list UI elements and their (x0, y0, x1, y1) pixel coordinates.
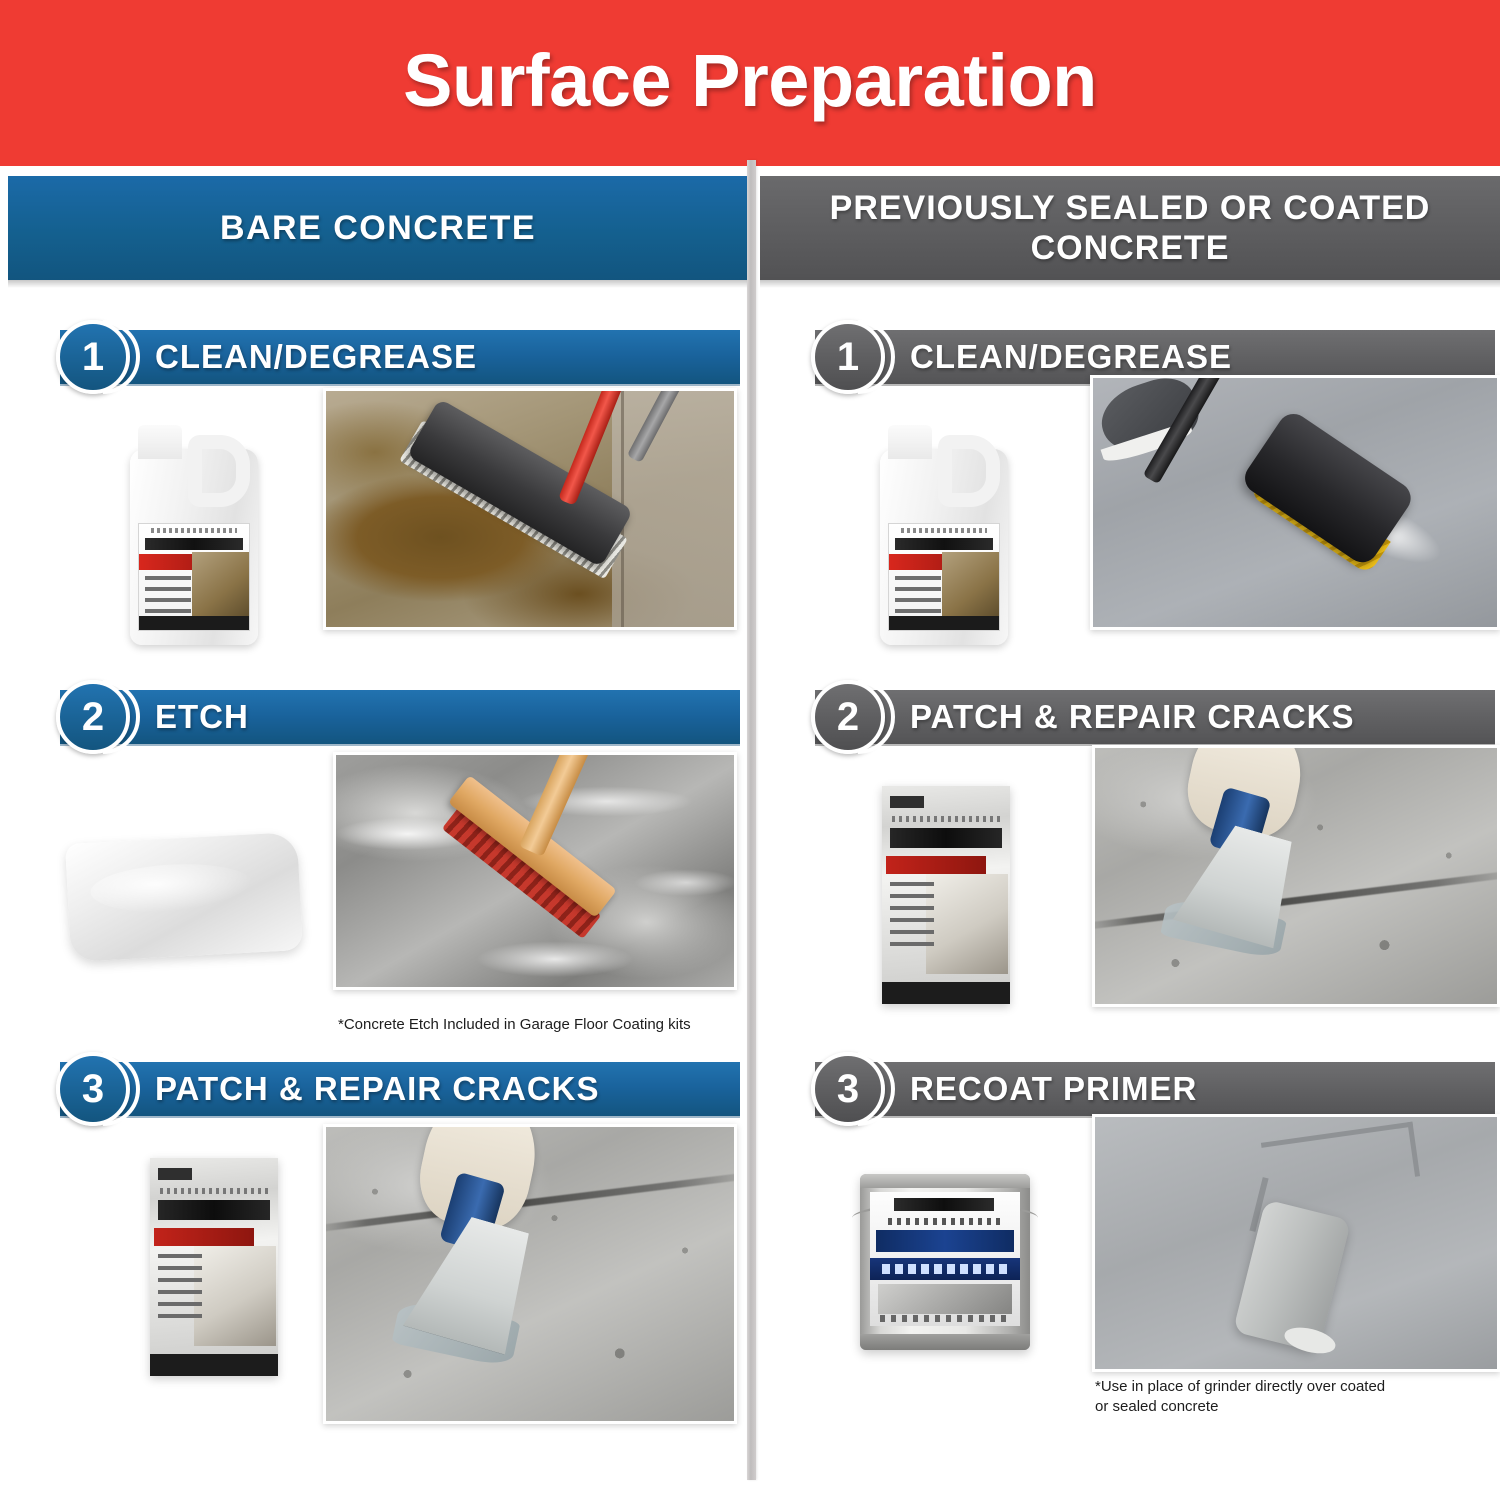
column-heading-left: BARE CONCRETE (8, 176, 748, 280)
can-label-brand (894, 1198, 994, 1211)
left-step-2-bar: ETCH (60, 690, 740, 746)
left-step-2-photo (333, 752, 737, 990)
left-step-2-badge: 2 (56, 680, 130, 754)
left-step-3-label: PATCH & REPAIR CRACKS (155, 1070, 600, 1108)
right-step-2-badge: 2 (811, 680, 885, 754)
column-heading-left-label: BARE CONCRETE (220, 209, 536, 248)
jug-label-topline (901, 528, 987, 533)
photo-content (326, 1127, 734, 1421)
column-divider (747, 160, 756, 1480)
left-step-2-product (65, 832, 303, 962)
right-step-3-bar: RECOAT PRIMER (815, 1062, 1495, 1118)
can-label-photo (878, 1284, 1012, 1314)
photo-content (326, 391, 734, 627)
roller-frame-wire (1261, 1122, 1420, 1198)
right-step-2-number: 2 (837, 695, 859, 740)
can-label-title (876, 1230, 1014, 1252)
jug-label-text-lines (895, 576, 941, 620)
left-step-2-label: ETCH (155, 698, 249, 736)
box-tagline (160, 1188, 268, 1194)
box-red-band (886, 856, 986, 874)
concrete-slab (612, 391, 734, 627)
box-brand (890, 828, 1002, 848)
photo-content (1093, 378, 1497, 627)
jug-label-brand (895, 538, 993, 550)
box-footer (150, 1354, 278, 1376)
left-column-footnote: *Concrete Etch Included in Garage Floor … (338, 1015, 738, 1035)
can-rim-top (860, 1174, 1030, 1188)
box-photo (194, 1246, 276, 1346)
box-top-tab (158, 1168, 192, 1180)
photo-content (336, 755, 734, 987)
right-step-2-bar: PATCH & REPAIR CRACKS (815, 690, 1495, 746)
column-heading-right-label: PREVIOUSLY SEALED OR COATED CONCRETE (760, 188, 1500, 268)
column-heading-right-shadow (760, 280, 1500, 288)
jug-label-footer (139, 616, 249, 630)
right-step-1-number: 1 (837, 335, 859, 380)
left-step-1-bar: CLEAN/DEGREASE (60, 330, 740, 386)
left-step-2-number: 2 (82, 695, 104, 740)
jug-label-topline (151, 528, 237, 533)
right-step-1-label: CLEAN/DEGREASE (910, 338, 1232, 376)
box-footer (882, 982, 1010, 1004)
jug-handle (188, 435, 250, 507)
box-photo (926, 874, 1008, 974)
left-step-1-badge: 1 (56, 320, 130, 394)
page-title: Surface Preparation (403, 44, 1097, 122)
jug-neck (138, 425, 182, 459)
box-text-lines (890, 882, 934, 952)
jug-label-footer (889, 616, 999, 630)
jug-label-photo (192, 552, 249, 616)
right-step-2-label: PATCH & REPAIR CRACKS (910, 698, 1355, 736)
right-step-1-photo (1090, 375, 1500, 630)
jug-label (888, 523, 1000, 631)
jug-neck (888, 425, 932, 459)
can-label-footer (880, 1315, 1010, 1322)
box-brand (158, 1200, 270, 1220)
left-step-1-label: CLEAN/DEGREASE (155, 338, 477, 376)
jug-handle (938, 435, 1000, 507)
right-step-3-number: 3 (837, 1067, 859, 1112)
right-column-footnote: *Use in place of grinder directly over c… (1095, 1377, 1495, 1418)
jug-label-photo (942, 552, 999, 616)
box-red-band (154, 1228, 254, 1246)
left-step-3-number: 3 (82, 1067, 104, 1112)
right-step-3-badge: 3 (811, 1052, 885, 1126)
column-heading-right: PREVIOUSLY SEALED OR COATED CONCRETE (760, 176, 1500, 280)
right-step-2-photo (1092, 745, 1500, 1007)
right-step-3-product (860, 1174, 1030, 1350)
can-label-product-line (888, 1218, 1002, 1225)
column-heading-left-shadow (8, 280, 748, 288)
left-step-1-number: 1 (82, 335, 104, 380)
can-rim-bottom (860, 1334, 1030, 1350)
left-step-3-badge: 3 (56, 1052, 130, 1126)
can-label-band-text (882, 1264, 1008, 1274)
box-top-tab (890, 796, 924, 808)
right-step-3-label: RECOAT PRIMER (910, 1070, 1197, 1108)
jug-label-text-lines (145, 576, 191, 620)
box-text-lines (158, 1254, 202, 1324)
left-step-3-bar: PATCH & REPAIR CRACKS (60, 1062, 740, 1118)
can-label (870, 1192, 1020, 1326)
right-step-3-photo (1092, 1114, 1500, 1372)
box-tagline (892, 816, 1000, 822)
left-step-3-product (150, 1158, 278, 1376)
jug-label (138, 523, 250, 631)
right-step-1-badge: 1 (811, 320, 885, 394)
right-step-2-product (882, 786, 1010, 1004)
jug-label-brand (145, 538, 243, 550)
banner: Surface Preparation (0, 0, 1500, 166)
left-step-3-photo (323, 1124, 737, 1424)
infographic-page: Surface Preparation BARE CONCRETE PREVIO… (0, 0, 1500, 1500)
photo-content (1095, 1117, 1497, 1369)
photo-content (1095, 748, 1497, 1004)
left-step-1-photo (323, 388, 737, 630)
roller-end-cap (1282, 1323, 1338, 1358)
